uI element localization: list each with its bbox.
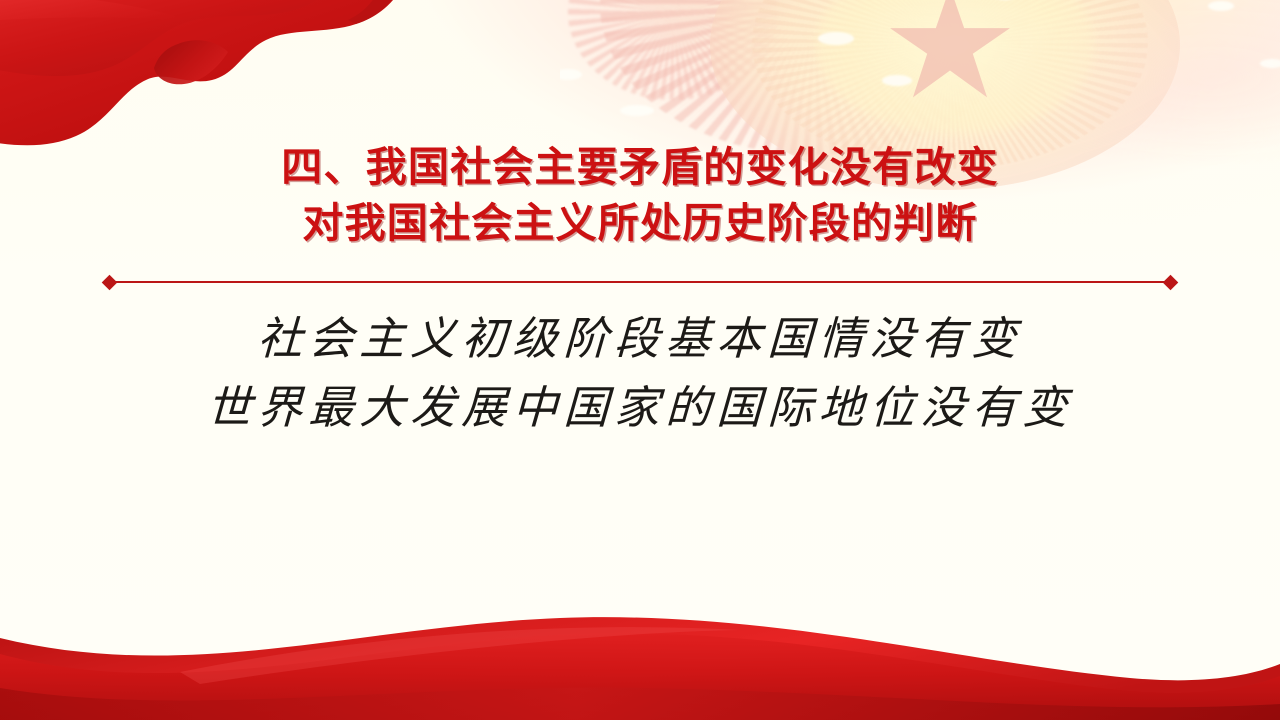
- title-line-2: 对我国社会主义所处历史阶段的判断: [0, 196, 1280, 252]
- title-divider: [104, 275, 1176, 289]
- slide-canvas: 四、我国社会主要矛盾的变化没有改变 对我国社会主义所处历史阶段的判断 社会主义初…: [0, 0, 1280, 720]
- divider-rule: [112, 281, 1168, 283]
- title-line-1: 四、我国社会主要矛盾的变化没有改变: [0, 140, 1280, 196]
- slide-body: 社会主义初级阶段基本国情没有变 世界最大发展中国家的国际地位没有变: [0, 305, 1280, 443]
- slide-title: 四、我国社会主要矛盾的变化没有改变 对我国社会主义所处历史阶段的判断: [0, 140, 1280, 252]
- body-line-2: 世界最大发展中国家的国际地位没有变: [0, 374, 1280, 443]
- body-line-1: 社会主义初级阶段基本国情没有变: [0, 305, 1280, 374]
- divider-diamond-right-icon: [1163, 275, 1179, 291]
- watermark-bubble: [620, 105, 654, 116]
- watermark-bubble: [818, 32, 854, 45]
- watermark-bubble: [882, 75, 912, 86]
- watermark-bubble: [1260, 59, 1280, 68]
- watermark-bubble: [1208, 1, 1234, 11]
